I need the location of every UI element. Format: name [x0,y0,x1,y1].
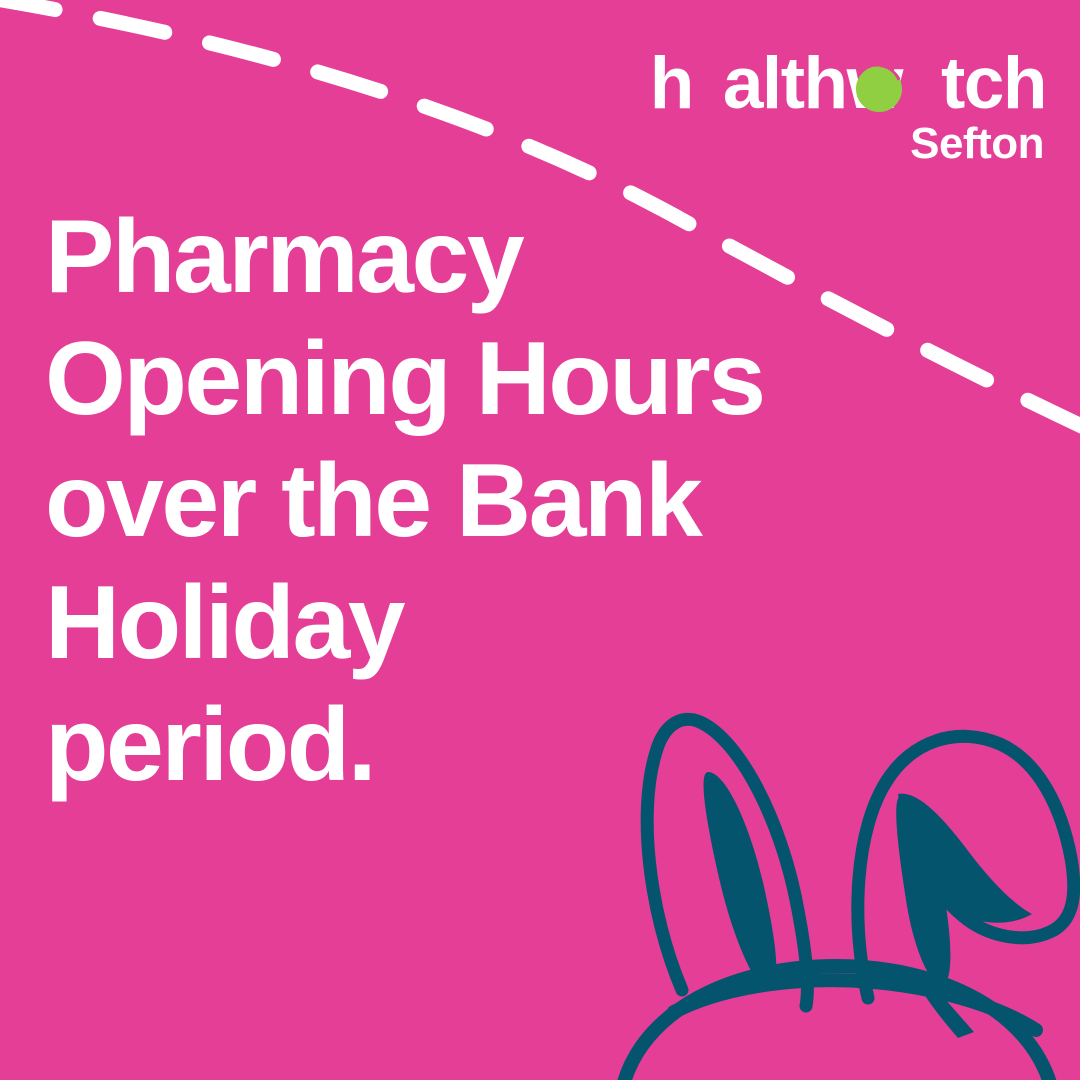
headline-line-2: Opening Hours [45,318,835,440]
logo-letter-h: h [650,46,693,122]
right-inner-ear-lobe [898,794,1032,923]
page-title: Pharmacy Opening Hours over the Bank Hol… [45,196,835,806]
right-inner-ear [896,795,950,984]
logo-text-tch: tch [941,43,1046,124]
right-ear-stem [920,982,974,1038]
poster-canvas: h althwatch Sefton Pharmacy Opening Hour… [0,0,1080,1080]
headline-line-4: Holiday [45,562,835,684]
green-speech-bubble-dot-icon [856,66,902,112]
logo-wordmark: h althwatch [576,46,1046,122]
headline-line-5: period. [45,684,835,806]
headline-line-3: over the Bank [45,440,835,562]
headline-line-1: Pharmacy [45,196,835,318]
healthwatch-sefton-logo: h althwatch Sefton [576,46,1046,166]
